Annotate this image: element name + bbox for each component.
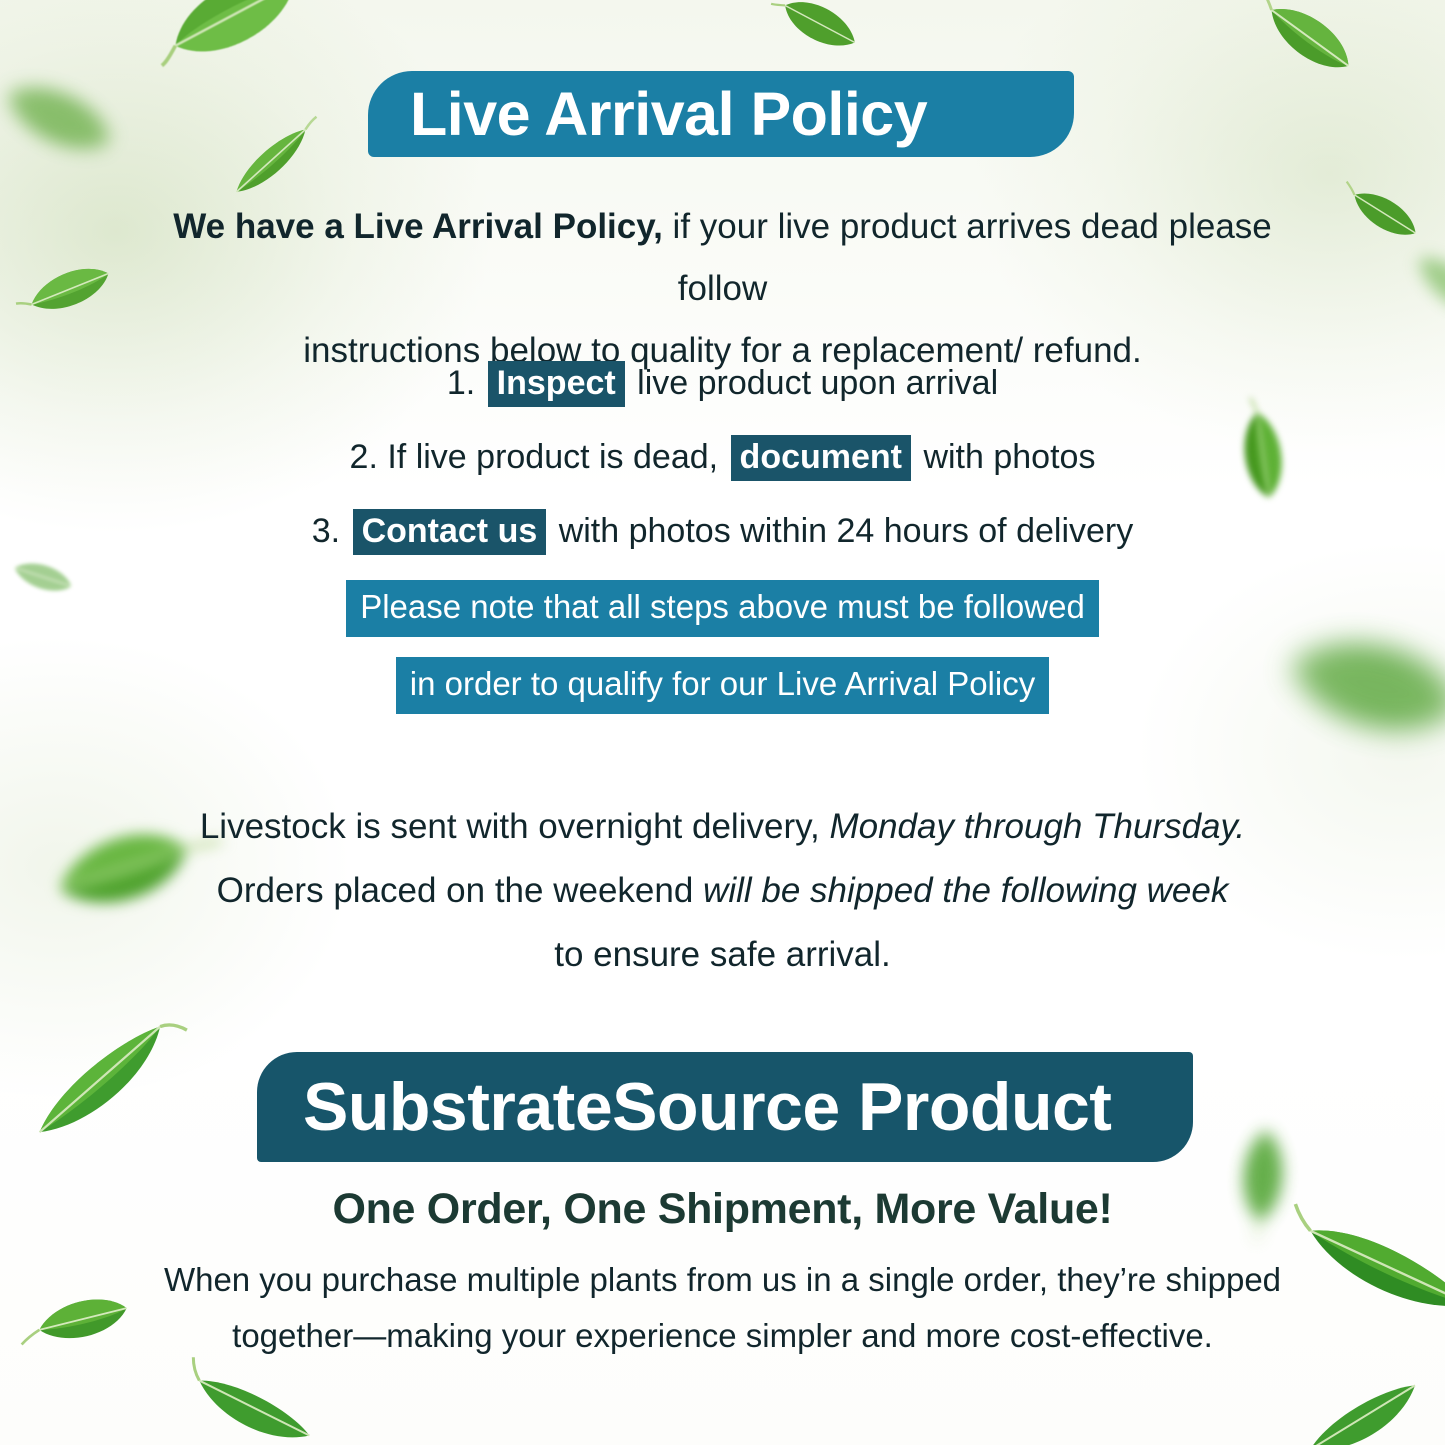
shipping-paragraph: Livestock is sent with overnight deliver… <box>170 795 1275 987</box>
content-layer: Live Arrival Policy We have a Live Arriv… <box>0 0 1445 1445</box>
value-paragraph: When you purchase multiple plants from u… <box>150 1252 1295 1364</box>
intro-lead-text: We have a Live Arrival Policy, <box>173 207 663 246</box>
live-arrival-policy-banner: Live Arrival Policy <box>368 71 1074 157</box>
intro-rest-text: if your live product arrives dead please… <box>663 207 1272 308</box>
step-before-text: If live product is dead, <box>378 438 728 476</box>
step-after-text: live product upon arrival <box>628 364 998 402</box>
note-line-2: in order to qualify for our Live Arrival… <box>396 657 1049 714</box>
policy-graphic-page: Live Arrival Policy We have a Live Arriv… <box>0 0 1445 1445</box>
shipping-line-1-emphasis: Monday through Thursday. <box>829 807 1245 846</box>
inspect-highlight: Inspect <box>488 361 625 407</box>
shipping-line-2-plain: Orders placed on the weekend <box>217 871 703 910</box>
intro-line-1: We have a Live Arrival Policy, if your l… <box>150 196 1295 320</box>
step-after-text: with photos <box>914 438 1095 476</box>
shipping-line-3: to ensure safe arrival. <box>170 923 1275 987</box>
list-item: 3. Contact us with photos within 24 hour… <box>150 500 1295 562</box>
note-line-1: Please note that all steps above must be… <box>346 580 1099 637</box>
step-number: 1. <box>447 364 475 402</box>
substratesource-product-title: SubstrateSource Product <box>303 1068 1111 1146</box>
list-item: 2. If live product is dead, document wit… <box>150 426 1295 488</box>
list-item: 1. Inspect live product upon arrival <box>150 352 1295 414</box>
substratesource-product-banner: SubstrateSource Product <box>257 1052 1193 1162</box>
shipping-line-2-emphasis: will be shipped the following week <box>703 871 1228 910</box>
step-number: 2. <box>350 438 378 476</box>
shipping-line-1: Livestock is sent with overnight deliver… <box>170 795 1275 859</box>
value-line-2: together—making your experience simpler … <box>150 1308 1295 1364</box>
please-note-block: Please note that all steps above must be… <box>150 580 1295 714</box>
live-arrival-policy-title: Live Arrival Policy <box>410 79 927 149</box>
value-line-1: When you purchase multiple plants from u… <box>150 1252 1295 1308</box>
note-spacer <box>150 637 1295 657</box>
shipping-line-2: Orders placed on the weekend will be shi… <box>170 859 1275 923</box>
contact-us-highlight[interactable]: Contact us <box>353 509 547 555</box>
value-heading: One Order, One Shipment, More Value! <box>150 1185 1295 1234</box>
steps-list: 1. Inspect live product upon arrival 2. … <box>150 352 1295 574</box>
step-number: 3. <box>312 512 340 550</box>
step-after-text: with photos within 24 hours of delivery <box>549 512 1133 550</box>
shipping-line-1-plain: Livestock is sent with overnight deliver… <box>200 807 830 846</box>
document-highlight: document <box>731 435 911 481</box>
